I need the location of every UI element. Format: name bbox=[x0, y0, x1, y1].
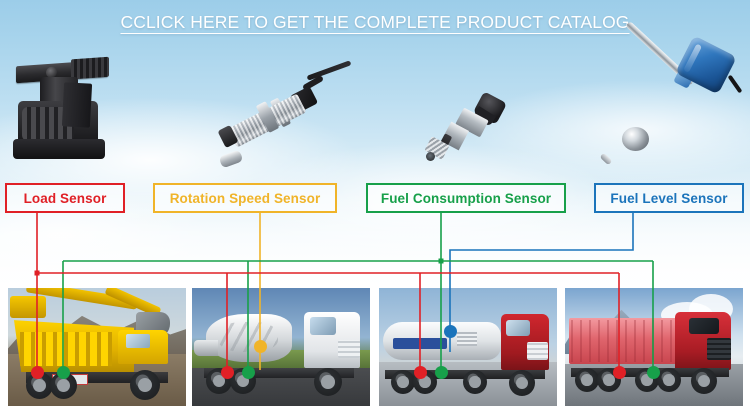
label-fuel-level-sensor-text: Fuel Level Sensor bbox=[610, 191, 727, 206]
sensor-dot-rotation-truck2 bbox=[254, 340, 267, 353]
sensor-dot-fuel-level-truck3 bbox=[444, 325, 457, 338]
label-rotation-speed-sensor[interactable]: Rotation Speed Sensor bbox=[153, 183, 337, 213]
wire-fuel-level bbox=[450, 213, 633, 352]
sensor-dot-load-truck1 bbox=[31, 366, 44, 379]
label-fuel-consumption-sensor[interactable]: Fuel Consumption Sensor bbox=[366, 183, 566, 213]
sensor-dot-fuel-consumption-truck3 bbox=[435, 366, 448, 379]
sensor-dot-load-truck4 bbox=[613, 366, 626, 379]
sensor-dot-fuel-consumption-truck4 bbox=[647, 366, 660, 379]
label-fuel-consumption-sensor-text: Fuel Consumption Sensor bbox=[381, 191, 551, 206]
sensor-dot-fuel-consumption-truck2 bbox=[242, 366, 255, 379]
infographic-stage: CCLICK HERE TO GET THE COMPLETE PRODUCT … bbox=[0, 0, 750, 406]
label-load-sensor-text: Load Sensor bbox=[24, 191, 107, 206]
sensor-dot-load-truck2 bbox=[221, 366, 234, 379]
label-fuel-level-sensor[interactable]: Fuel Level Sensor bbox=[594, 183, 744, 213]
sensor-dot-fuel-consumption-truck1 bbox=[57, 366, 70, 379]
wire-load bbox=[37, 213, 619, 372]
label-rotation-speed-sensor-text: Rotation Speed Sensor bbox=[170, 191, 321, 206]
label-load-sensor[interactable]: Load Sensor bbox=[5, 183, 125, 213]
sensor-dot-load-truck3 bbox=[414, 366, 427, 379]
wire-junction-load bbox=[35, 271, 40, 276]
wire-fuel-consumption bbox=[63, 213, 653, 372]
wire-junction-fuel-consumption bbox=[439, 259, 444, 264]
